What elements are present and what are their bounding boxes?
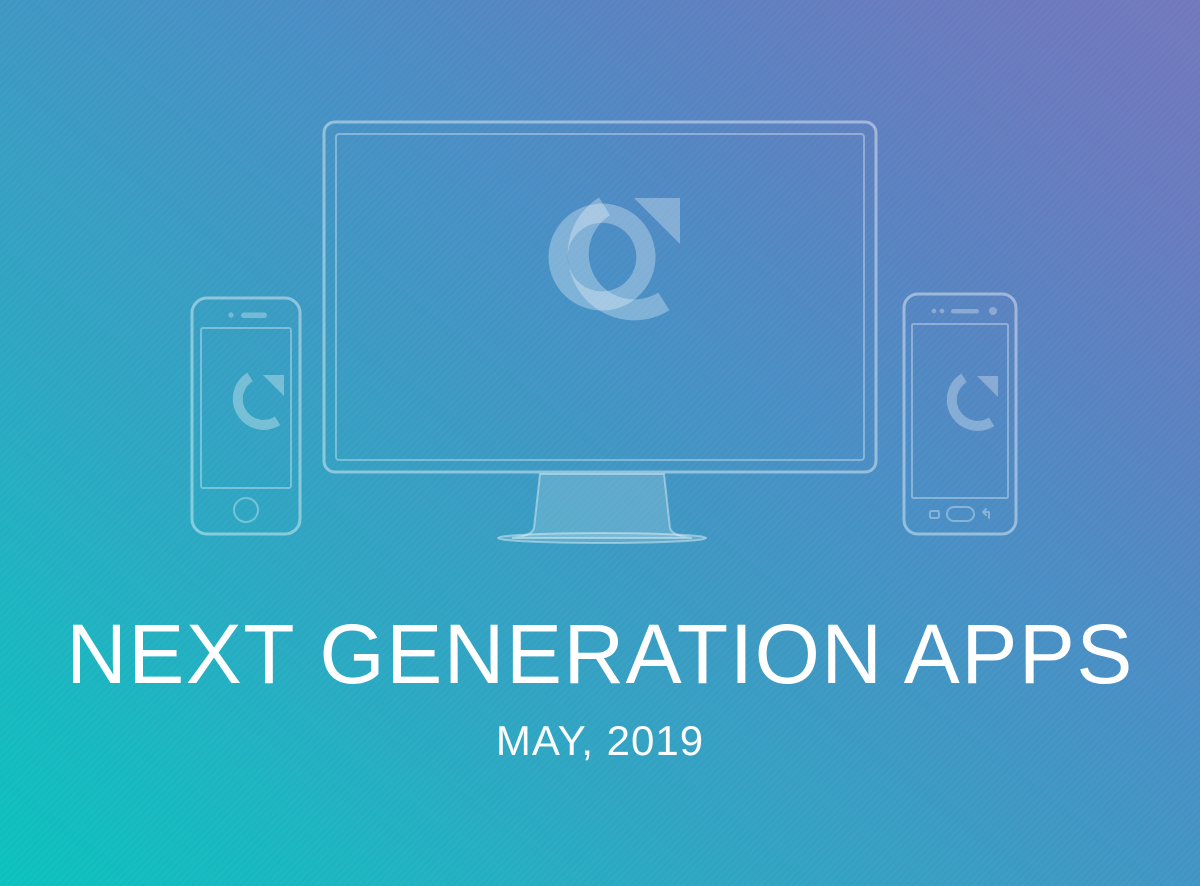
refresh-arc bbox=[942, 378, 992, 436]
sensor-dot-icon bbox=[932, 309, 937, 314]
back-arrow-icon[interactable] bbox=[983, 509, 989, 518]
home-pill-icon[interactable] bbox=[947, 507, 974, 521]
home-button-icon bbox=[234, 498, 258, 522]
camera-circle-icon bbox=[989, 307, 997, 315]
camera-dot-icon bbox=[228, 312, 233, 317]
refresh-icon bbox=[228, 375, 284, 435]
refresh-icon bbox=[942, 376, 998, 436]
caption-block: NEXT GENERATION APPS MAY, 2019 bbox=[0, 612, 1200, 762]
iphone bbox=[190, 296, 302, 536]
refresh-arrowhead bbox=[263, 375, 284, 396]
desktop-monitor bbox=[322, 120, 882, 540]
page-subtitle-date: MAY, 2019 bbox=[0, 720, 1200, 762]
speaker-slot-icon bbox=[241, 313, 267, 319]
device-illustration-group bbox=[0, 0, 1200, 560]
slide-canvas: NEXT GENERATION APPS MAY, 2019 bbox=[0, 0, 1200, 886]
page-title: NEXT GENERATION APPS bbox=[0, 612, 1200, 696]
iphone-screen bbox=[201, 328, 291, 488]
refresh-arrowhead bbox=[977, 376, 998, 397]
monitor-stand bbox=[512, 474, 692, 538]
sensor-dot-icon bbox=[940, 309, 945, 314]
speaker-slot-icon bbox=[951, 309, 979, 314]
monitor-base bbox=[498, 533, 706, 543]
recents-square-icon[interactable] bbox=[930, 511, 939, 518]
android-phone bbox=[902, 292, 1018, 536]
refresh-arc bbox=[228, 377, 278, 435]
